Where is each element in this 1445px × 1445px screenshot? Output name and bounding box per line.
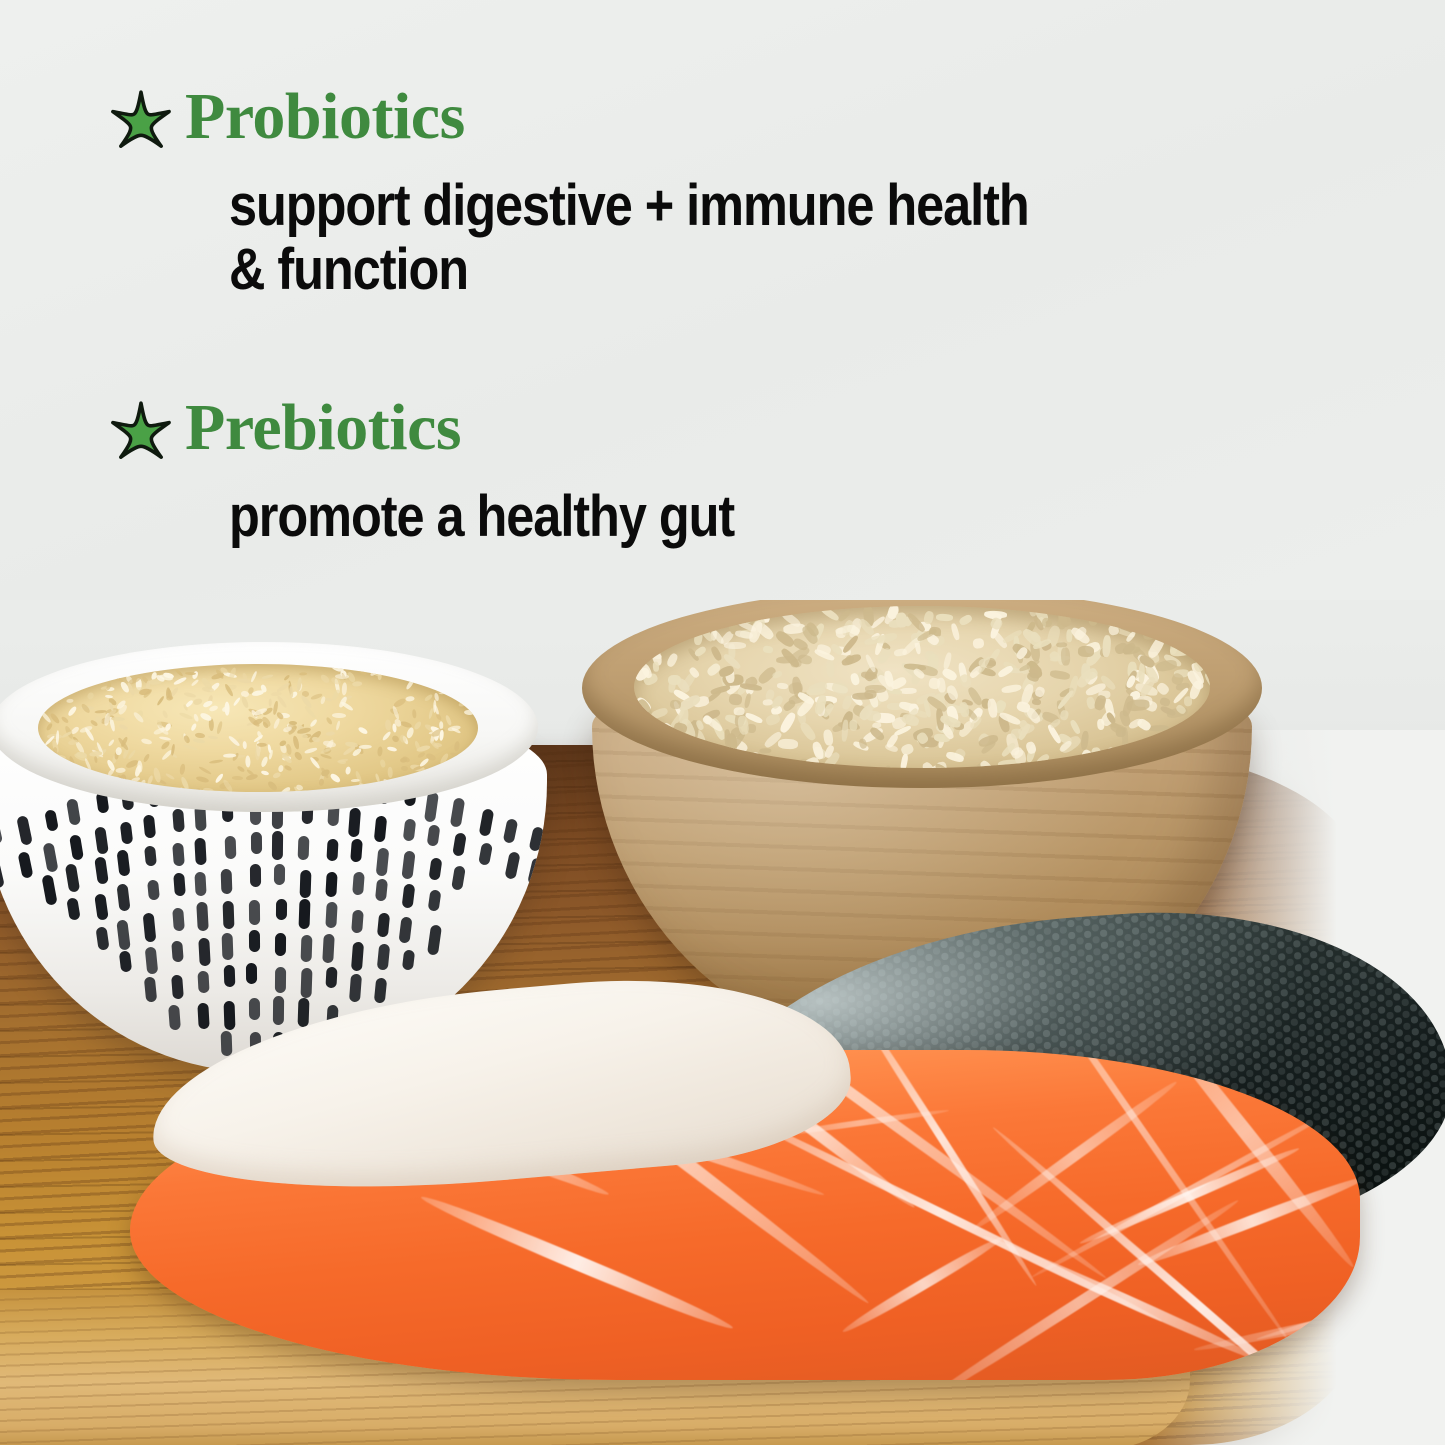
food-photograph: [0, 530, 1445, 1445]
benefit-prebiotics-description: promote a healthy gut: [229, 485, 734, 549]
copy-area: Probiotics support digestive + immune he…: [0, 0, 1445, 600]
salmon-fillet: [130, 930, 1445, 1400]
rolled-oats-contents: [634, 606, 1210, 768]
benefit-prebiotics-head: Prebiotics: [105, 393, 810, 473]
benefit-probiotics: Probiotics support digestive + immune he…: [105, 82, 1148, 303]
brown-rice-contents: [38, 664, 478, 792]
benefit-prebiotics: Prebiotics promote a healthy gut: [105, 393, 810, 549]
benefit-prebiotics-title: Prebiotics: [185, 393, 461, 459]
benefit-probiotics-head: Probiotics: [105, 82, 1148, 162]
eight-point-star-icon: [105, 82, 185, 162]
benefit-probiotics-title: Probiotics: [185, 82, 465, 148]
infographic-canvas: Probiotics support digestive + immune he…: [0, 0, 1445, 1445]
benefit-probiotics-description: support digestive + immune health & func…: [229, 174, 1029, 303]
eight-point-star-icon: [105, 393, 185, 473]
